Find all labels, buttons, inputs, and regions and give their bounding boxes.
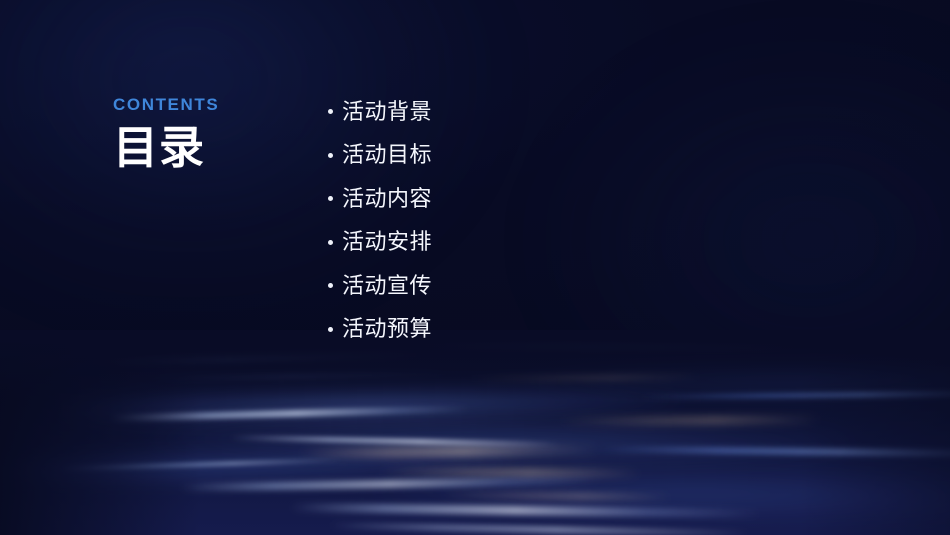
list-item-label: 活动预算 [342, 318, 432, 340]
table-of-contents-list: 活动背景 活动目标 活动内容 活动安排 活动宣传 活动预算 [328, 90, 432, 351]
list-item-label: 活动背景 [342, 101, 432, 123]
list-item-label: 活动安排 [342, 231, 432, 253]
list-item[interactable]: 活动安排 [328, 221, 432, 265]
slide-content: CONTENTS 目录 活动背景 活动目标 活动内容 活动安排 活动宣 [0, 0, 950, 535]
page-title: 目录 [113, 124, 219, 173]
list-item[interactable]: 活动目标 [328, 134, 432, 178]
list-item[interactable]: 活动内容 [328, 177, 432, 221]
bullet-dot-icon [328, 327, 333, 332]
bullet-dot-icon [328, 196, 333, 201]
bullet-dot-icon [328, 240, 333, 245]
list-item-label: 活动目标 [342, 144, 432, 166]
bullet-dot-icon [328, 153, 333, 158]
list-item-label: 活动内容 [342, 188, 432, 210]
heading-block: CONTENTS 目录 [113, 96, 219, 173]
contents-eyebrow-label: CONTENTS [113, 96, 219, 113]
list-item-label: 活动宣传 [342, 275, 432, 297]
slide-canvas: CONTENTS 目录 活动背景 活动目标 活动内容 活动安排 活动宣 [0, 0, 950, 535]
list-item[interactable]: 活动宣传 [328, 264, 432, 308]
bullet-dot-icon [328, 109, 333, 114]
list-item[interactable]: 活动背景 [328, 90, 432, 134]
list-item[interactable]: 活动预算 [328, 308, 432, 352]
bullet-dot-icon [328, 283, 333, 288]
